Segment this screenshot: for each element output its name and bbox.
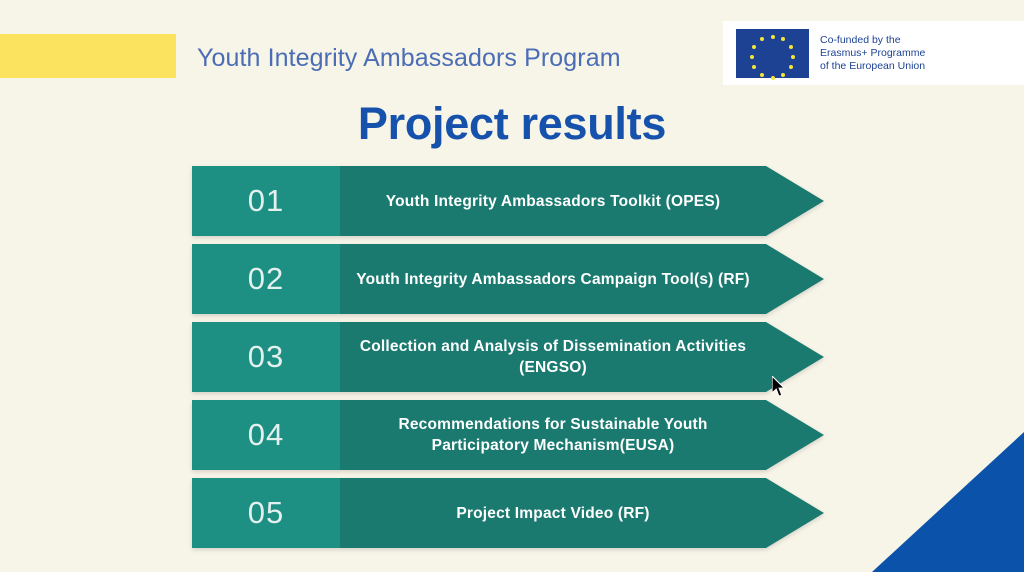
result-number: 05 [192,478,340,548]
project-results-list: 01 Youth Integrity Ambassadors Toolkit (… [192,166,824,548]
result-arrow: Project Impact Video (RF) [340,478,824,548]
yellow-accent-bar [0,34,176,78]
eu-cofunding-logo: Co-funded by the Erasmus+ Programme of t… [723,21,1024,85]
result-number: 04 [192,400,340,470]
result-arrow: Youth Integrity Ambassadors Toolkit (OPE… [340,166,824,236]
result-number: 02 [192,244,340,314]
main-heading: Project results [0,98,1024,150]
result-arrow: Recommendations for Sustainable Youth Pa… [340,400,824,470]
eu-logo-text: Co-funded by the Erasmus+ Programme of t… [820,34,925,73]
result-number: 03 [192,322,340,392]
result-label: Youth Integrity Ambassadors Campaign Too… [356,269,750,290]
result-label: Project Impact Video (RF) [456,503,649,524]
result-arrow: Youth Integrity Ambassadors Campaign Too… [340,244,824,314]
result-row: 04 Recommendations for Sustainable Youth… [192,400,824,470]
result-row: 02 Youth Integrity Ambassadors Campaign … [192,244,824,314]
result-label: Recommendations for Sustainable Youth Pa… [348,414,758,456]
page-title: Youth Integrity Ambassadors Program [197,44,621,73]
presentation-slide: Youth Integrity Ambassadors Program Co-f… [0,0,1024,572]
result-arrow: Collection and Analysis of Dissemination… [340,322,824,392]
result-row: 01 Youth Integrity Ambassadors Toolkit (… [192,166,824,236]
result-label: Youth Integrity Ambassadors Toolkit (OPE… [386,191,721,212]
result-row: 03 Collection and Analysis of Disseminat… [192,322,824,392]
result-number: 01 [192,166,340,236]
blue-corner-triangle [872,432,1024,572]
result-label: Collection and Analysis of Dissemination… [348,336,758,378]
eu-flag-icon [736,29,809,78]
result-row: 05 Project Impact Video (RF) [192,478,824,548]
